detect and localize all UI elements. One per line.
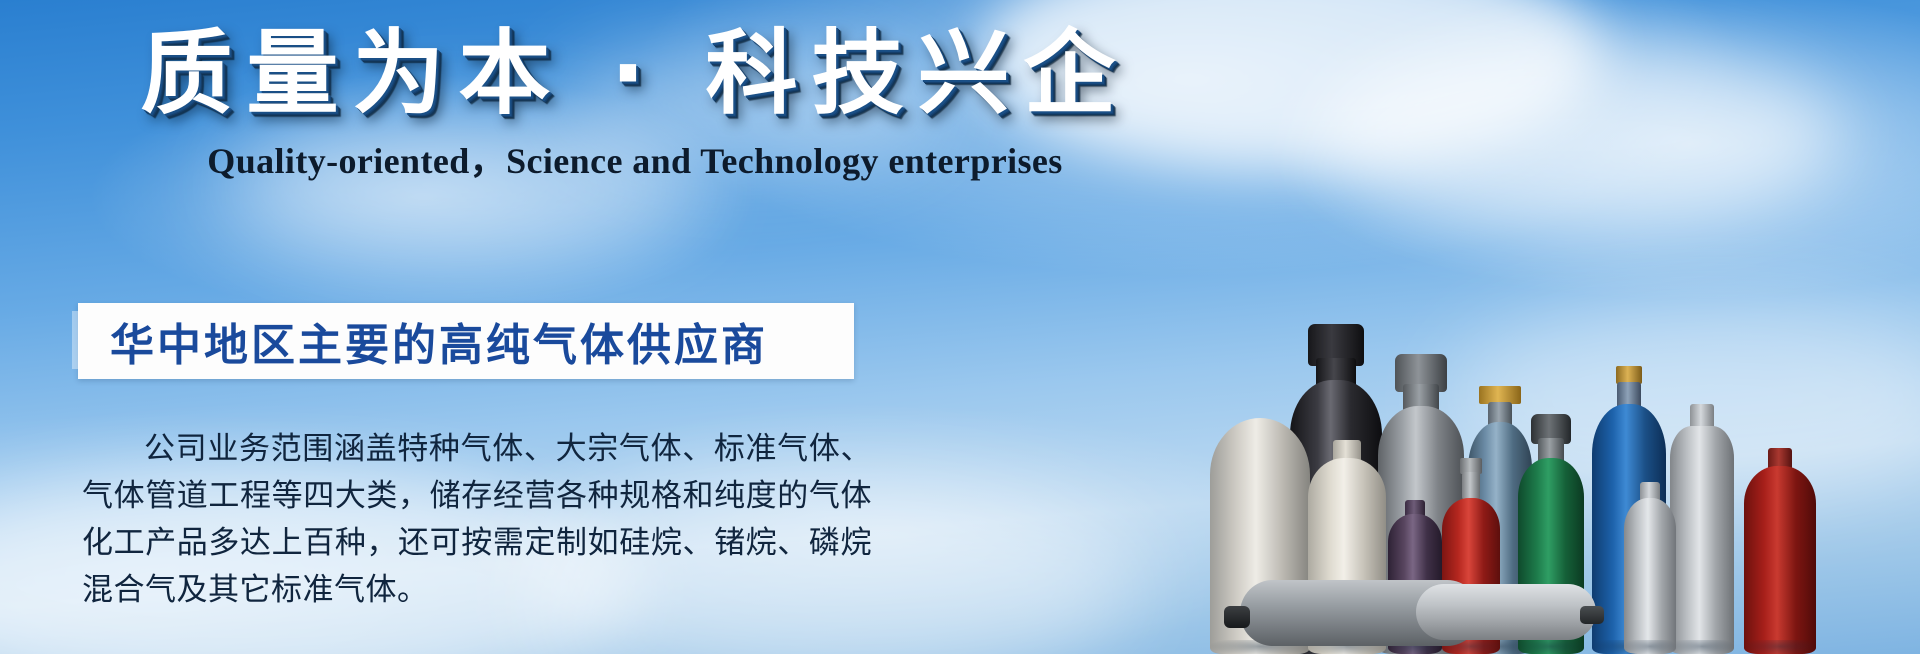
page-title: 质量为本 · 科技兴企 <box>0 24 1270 123</box>
silver-aluminum-cylinder <box>1670 404 1734 654</box>
promotional-banner: 质量为本 · 科技兴企 Quality-oriented，Science and… <box>0 0 1920 654</box>
silver-aluminum-cylinder <box>1624 482 1676 654</box>
highlight-box: 华中地区主要的高纯气体供应商 <box>78 303 854 379</box>
horizontal-tank-valve <box>1580 606 1604 624</box>
horizontal-silver-tank <box>1416 584 1596 640</box>
highlight-box-accent-bar <box>72 311 79 369</box>
description-paragraph: 公司业务范围涵盖特种气体、大宗气体、标准气体、气体管道工程等四大类，储存经营各种… <box>82 425 872 613</box>
horizontal-tank-valve <box>1224 606 1250 628</box>
gas-cylinder-group <box>1220 234 1920 654</box>
cloud-shape <box>1320 40 1840 230</box>
page-subtitle: Quality-oriented，Science and Technology … <box>0 132 1270 184</box>
highlight-box-label: 华中地区主要的高纯气体供应商 <box>78 309 768 373</box>
dark-red-cylinder <box>1744 448 1816 654</box>
